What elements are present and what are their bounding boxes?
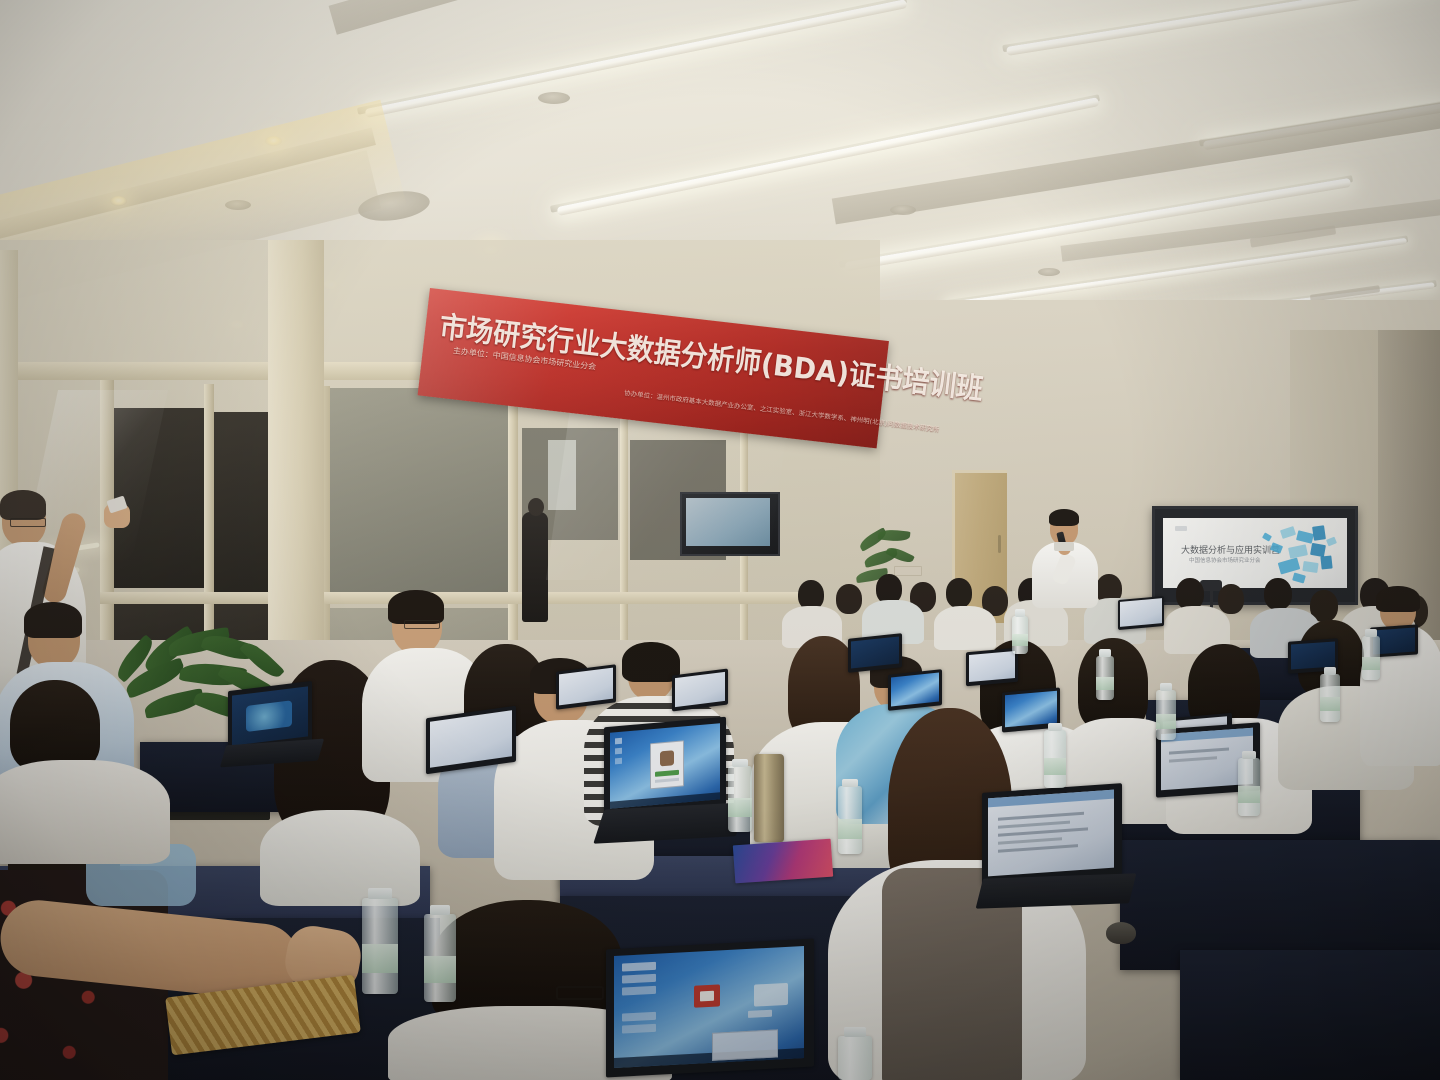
text-line	[998, 821, 1070, 829]
dialog-line	[655, 778, 679, 783]
slide-logo	[1175, 526, 1187, 531]
bottle-label	[1320, 697, 1340, 711]
laptop-screen[interactable]	[610, 723, 720, 809]
presenter-collar	[1054, 542, 1074, 551]
open-window[interactable]	[712, 1029, 778, 1060]
laptop-keyboard[interactable]	[976, 873, 1137, 908]
laptop-keyboard[interactable]	[593, 802, 746, 843]
laptop-screen[interactable]	[675, 672, 725, 707]
bottle-cap	[1099, 649, 1111, 657]
bottle-label	[1362, 657, 1380, 670]
dialog-window[interactable]	[650, 740, 684, 789]
laptop-screen[interactable]	[1005, 691, 1057, 728]
thermos-flask[interactable]	[754, 754, 784, 842]
bottle-label	[1012, 634, 1028, 645]
person-behind-glass-head	[528, 498, 544, 516]
photographer-glasses	[10, 518, 46, 527]
dialog-button[interactable]	[655, 770, 679, 777]
laptop-screen[interactable]	[232, 686, 308, 745]
slide-title: 大数据分析与应用实训营	[1181, 543, 1280, 556]
person-behind-glass	[522, 512, 548, 622]
desktop-widget-2[interactable]	[748, 1010, 772, 1018]
laptop-screen[interactable]	[614, 946, 804, 1068]
text-line	[998, 812, 1084, 821]
desktop-icon[interactable]	[615, 748, 622, 755]
desktop-logo-highlight	[700, 991, 714, 1002]
desktop-icon[interactable]	[622, 1024, 656, 1034]
laptop-row-1[interactable]	[556, 668, 620, 714]
wall-monitor-screen	[686, 498, 770, 546]
ceiling-beam-right-2	[1060, 198, 1440, 261]
slide-cube-12	[1292, 573, 1306, 584]
water-bottle[interactable]	[1012, 616, 1028, 654]
slide-cube-8	[1302, 561, 1318, 573]
attendee-head	[1218, 584, 1244, 614]
water-bottle[interactable]	[838, 786, 862, 854]
laptop-screen[interactable]	[1291, 641, 1335, 669]
ceiling-speaker-3	[538, 92, 570, 104]
bottle-cap	[368, 888, 391, 899]
ceiling-speaker-5	[1038, 268, 1060, 276]
plant2-leaf-4	[885, 544, 915, 565]
laptop-screen[interactable]	[969, 651, 1015, 682]
desktop-icon[interactable]	[622, 974, 656, 984]
photographer-hair	[0, 490, 46, 520]
ceiling-light-strip-1	[365, 0, 908, 118]
bottle-label	[362, 944, 398, 973]
bottle-label	[1238, 786, 1260, 803]
bottle-label	[424, 956, 456, 982]
water-bottle[interactable]	[1096, 656, 1114, 700]
attendee-hair	[388, 590, 444, 624]
bottle-cap	[1160, 683, 1173, 691]
bottle-label	[1044, 758, 1066, 775]
ceiling-light-strip-9	[1006, 0, 1440, 56]
desktop-icon[interactable]	[622, 1012, 656, 1022]
attendee-glasses	[404, 620, 440, 629]
ceiling-speaker-4	[890, 205, 916, 215]
slide-cube-5	[1288, 544, 1308, 559]
text-line	[998, 844, 1078, 853]
water-bottle[interactable]	[838, 1036, 872, 1080]
water-bottle[interactable]	[728, 766, 752, 832]
slide-cube-9	[1320, 555, 1332, 569]
desktop-icon[interactable]	[615, 738, 622, 745]
slide-cube-11	[1326, 537, 1337, 547]
laptop-foreground-bottom[interactable]	[606, 944, 821, 1080]
bottle-cap	[1324, 667, 1337, 675]
attendee-hair	[24, 602, 82, 638]
bottle-cap	[1048, 723, 1062, 731]
computer-mouse[interactable]	[1106, 922, 1136, 944]
bottle-label	[838, 819, 862, 839]
presenter-hair	[1049, 509, 1079, 526]
laptop-screen[interactable]	[559, 668, 613, 706]
text-line	[1169, 756, 1217, 762]
brochure-book[interactable]	[733, 839, 833, 884]
photo-scene: 市场研究行业大数据分析师(BDA)证书培训班 主办单位：中国信息协会市场研究业分…	[0, 0, 1440, 1080]
glass-interior-light	[548, 440, 576, 510]
attendee-glasses	[556, 986, 604, 1000]
laptop-foreground-center[interactable]	[604, 722, 738, 842]
slide-cube-3	[1312, 525, 1326, 541]
laptop-row-7[interactable]	[1118, 598, 1168, 636]
text-line	[998, 827, 1088, 836]
laptop-row-5[interactable]	[966, 650, 1022, 692]
laptop-screen[interactable]	[851, 636, 899, 668]
bottle-label	[1156, 714, 1176, 729]
ceiling-beam-right	[832, 102, 1440, 225]
bottle-cap	[1242, 751, 1256, 759]
slide-cube-7	[1278, 557, 1301, 574]
bottle-cap	[1015, 609, 1025, 617]
screen-graphic	[246, 700, 292, 732]
bottle-label	[728, 798, 752, 818]
bottle-cap	[430, 905, 450, 915]
laptop-screen[interactable]	[1120, 598, 1162, 627]
attendee-torso	[0, 760, 170, 864]
water-bottle[interactable]	[1238, 758, 1260, 816]
attendee-head	[1264, 578, 1292, 610]
bottle-cap	[1365, 629, 1377, 637]
attendee-hair	[1376, 586, 1420, 612]
slide-subtitle: 中国信息协会市场研究业分会	[1189, 556, 1261, 564]
water-bottle[interactable]	[1362, 636, 1380, 680]
text-line	[1169, 747, 1229, 754]
water-bottle[interactable]	[1044, 730, 1066, 788]
water-bottle[interactable]	[362, 898, 398, 994]
laptop-screen[interactable]	[988, 790, 1114, 877]
presenter	[1030, 512, 1102, 608]
desktop-icon[interactable]	[615, 758, 622, 765]
slide-cube-2	[1296, 530, 1314, 544]
attendee-left-lighttop	[0, 680, 170, 860]
water-bottle[interactable]	[424, 914, 456, 1002]
laptop-right-bottom[interactable]	[982, 788, 1130, 908]
attendee-head	[836, 584, 862, 614]
bottle-cap	[732, 759, 747, 767]
desktop-icon[interactable]	[622, 962, 656, 972]
attendee-far-right	[1370, 590, 1440, 770]
desktop-icon[interactable]	[622, 986, 656, 996]
text-line	[998, 837, 1062, 844]
slide-cube-10	[1262, 532, 1272, 541]
plant2-leaf-2	[878, 528, 911, 542]
laptop-left-by-plant[interactable]	[228, 686, 318, 764]
bottle-cap	[842, 779, 857, 787]
dialog-avatar	[660, 750, 674, 766]
laptop-row-2[interactable]	[672, 672, 732, 716]
table-right-4	[1180, 950, 1440, 1080]
laptop-row-4[interactable]	[888, 672, 946, 716]
attendee-hair	[10, 680, 100, 772]
laptop-left-mid[interactable]	[426, 712, 522, 782]
water-bottle[interactable]	[1156, 690, 1176, 740]
laptop-screen[interactable]	[891, 672, 939, 706]
bottle-cap	[844, 1027, 866, 1037]
slide-cube-1	[1280, 526, 1296, 539]
ceiling-light-strip-2	[557, 97, 1100, 216]
water-bottle[interactable]	[1320, 674, 1340, 722]
desktop-widget[interactable]	[754, 983, 788, 1007]
ceiling-duct	[329, 0, 472, 35]
bottle-label	[1096, 677, 1114, 690]
attendee-head	[946, 578, 972, 608]
slide-cube-6	[1310, 543, 1326, 557]
